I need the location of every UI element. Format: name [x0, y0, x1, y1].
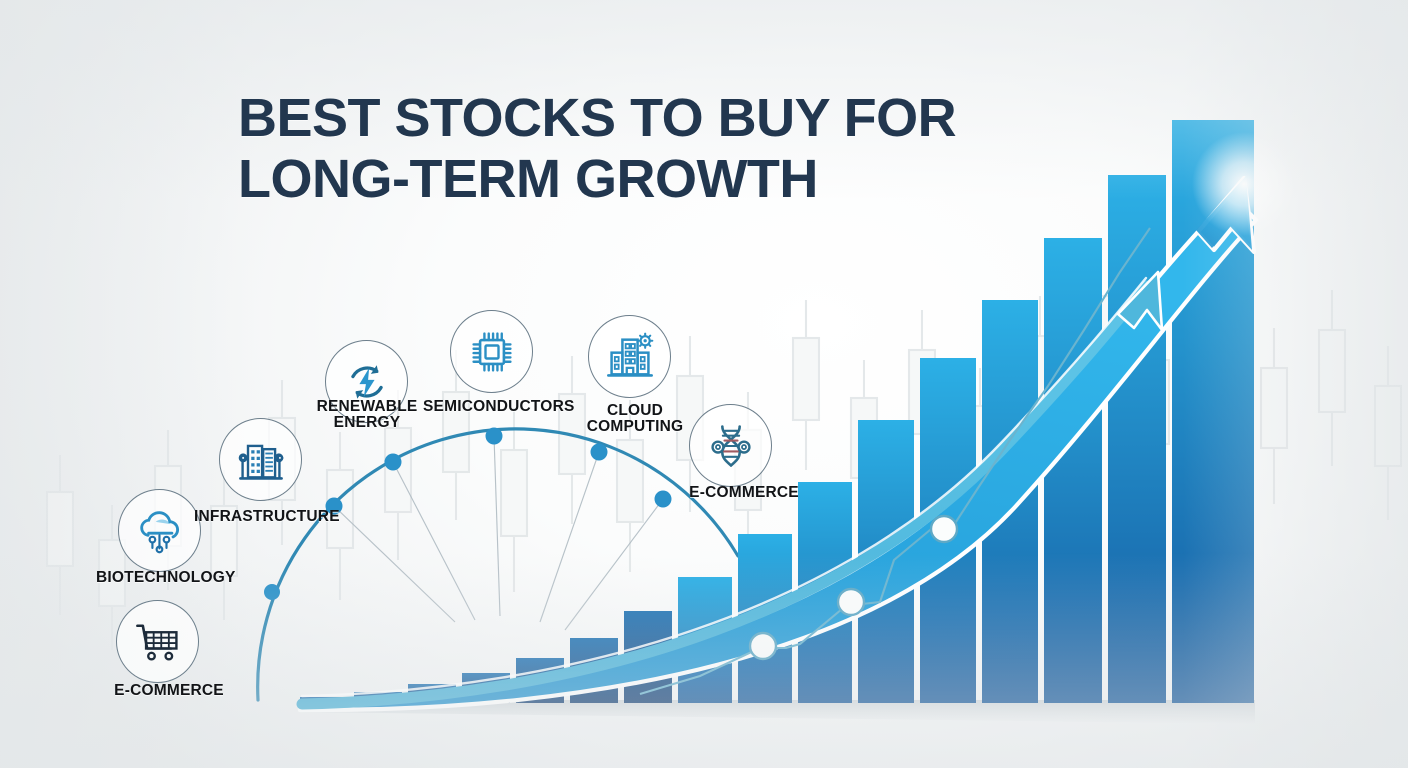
sector-label-cloud-computing: CLOUD COMPUTING	[578, 403, 692, 435]
infographic-poster: BEST STOCKS TO BUY FOR LONG-TERM GROWTH …	[0, 0, 1408, 768]
city-gear-icon	[604, 331, 656, 383]
cloud-circuit-icon	[134, 505, 186, 557]
sector-label-biotechnology: BIOTECHNOLOGY	[96, 570, 230, 586]
sector-badge-semiconductors[interactable]	[450, 310, 533, 393]
microchip-icon	[466, 326, 518, 378]
sector-label-infrastructure: INFRASTRUCTURE	[194, 509, 334, 525]
title-line-2: LONG-TERM GROWTH	[238, 154, 956, 206]
sector-badge-biotechnology[interactable]	[118, 489, 201, 572]
shopping-cart-icon	[132, 616, 184, 668]
office-buildings-icon	[235, 434, 287, 486]
dna-helix-icon	[705, 420, 757, 472]
sector-label-semiconductors: SEMICONDUCTORS	[423, 399, 571, 415]
sector-label-renewable-energy: RENEWABLE ENERGY	[308, 399, 426, 431]
sector-badge-ecommerce-cart[interactable]	[116, 600, 199, 683]
title-line-1: BEST STOCKS TO BUY FOR	[238, 88, 956, 148]
sector-badge-infrastructure[interactable]	[219, 418, 302, 501]
sector-label-ecommerce-dna: E-COMMERCE	[684, 485, 804, 501]
sector-label-ecommerce-cart: E-COMMERCE	[108, 683, 230, 699]
sector-badge-cloud-computing[interactable]	[588, 315, 671, 398]
sector-badge-ecommerce-dna[interactable]	[689, 404, 772, 487]
page-title: BEST STOCKS TO BUY FOR LONG-TERM GROWTH	[238, 93, 956, 206]
arrow-tip-glow	[1192, 132, 1296, 236]
